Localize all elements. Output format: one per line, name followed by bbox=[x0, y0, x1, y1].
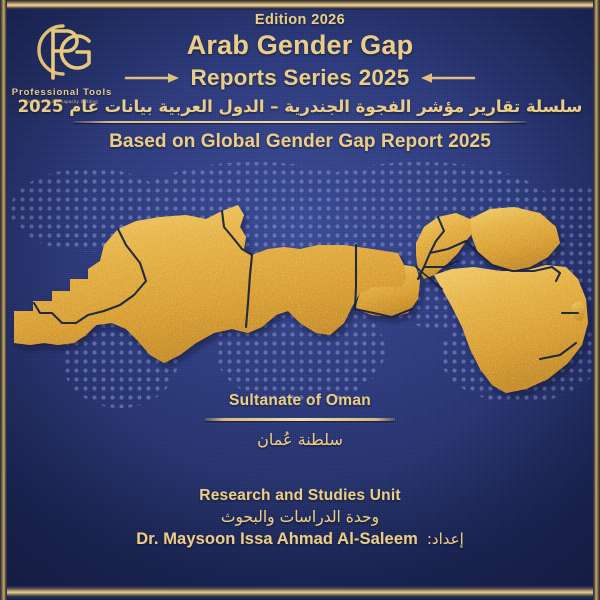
report-cover: Professional Tools for training and capa… bbox=[0, 0, 600, 600]
frame-top-border bbox=[0, 0, 600, 10]
research-unit-en: Research and Studies Unit bbox=[0, 487, 600, 505]
author-name: Dr. Maysoon Issa Ahmad Al-Saleem bbox=[136, 530, 418, 549]
country-name-ar: سلطنة عُمان bbox=[0, 430, 600, 449]
subtitle-arabic: سلسلة تقارير مؤشر الفجوة الجندرية – الدو… bbox=[0, 97, 600, 116]
author-label-ar: إعداد: bbox=[427, 530, 464, 548]
research-unit-ar: وحدة الدراسات والبحوث bbox=[0, 508, 600, 526]
series-label: Reports Series 2025 bbox=[191, 65, 410, 91]
author-row: إعداد: Dr. Maysoon Issa Ahmad Al-Saleem bbox=[0, 530, 600, 549]
arrow-left-icon bbox=[418, 71, 476, 85]
arab-world-map-icon bbox=[0, 183, 600, 403]
frame-bottom-border bbox=[0, 586, 600, 600]
frame-right-border bbox=[593, 0, 600, 600]
country-block: Sultanate of Oman سلطنة عُمان bbox=[0, 392, 600, 449]
country-name-en: Sultanate of Oman bbox=[0, 392, 600, 410]
arrow-right-icon bbox=[124, 71, 182, 85]
cover-header: Edition 2026 Arab Gender Gap Reports Ser… bbox=[0, 12, 600, 153]
based-on-label: Based on Global Gender Gap Report 2025 bbox=[0, 131, 600, 153]
credits-block: Research and Studies Unit وحدة الدراسات … bbox=[0, 487, 600, 549]
country-divider bbox=[205, 418, 395, 421]
header-divider bbox=[74, 121, 526, 123]
page-title: Arab Gender Gap bbox=[0, 31, 600, 59]
edition-label: Edition 2026 bbox=[0, 12, 600, 28]
frame-left-border bbox=[0, 0, 7, 600]
series-row: Reports Series 2025 bbox=[0, 65, 600, 91]
